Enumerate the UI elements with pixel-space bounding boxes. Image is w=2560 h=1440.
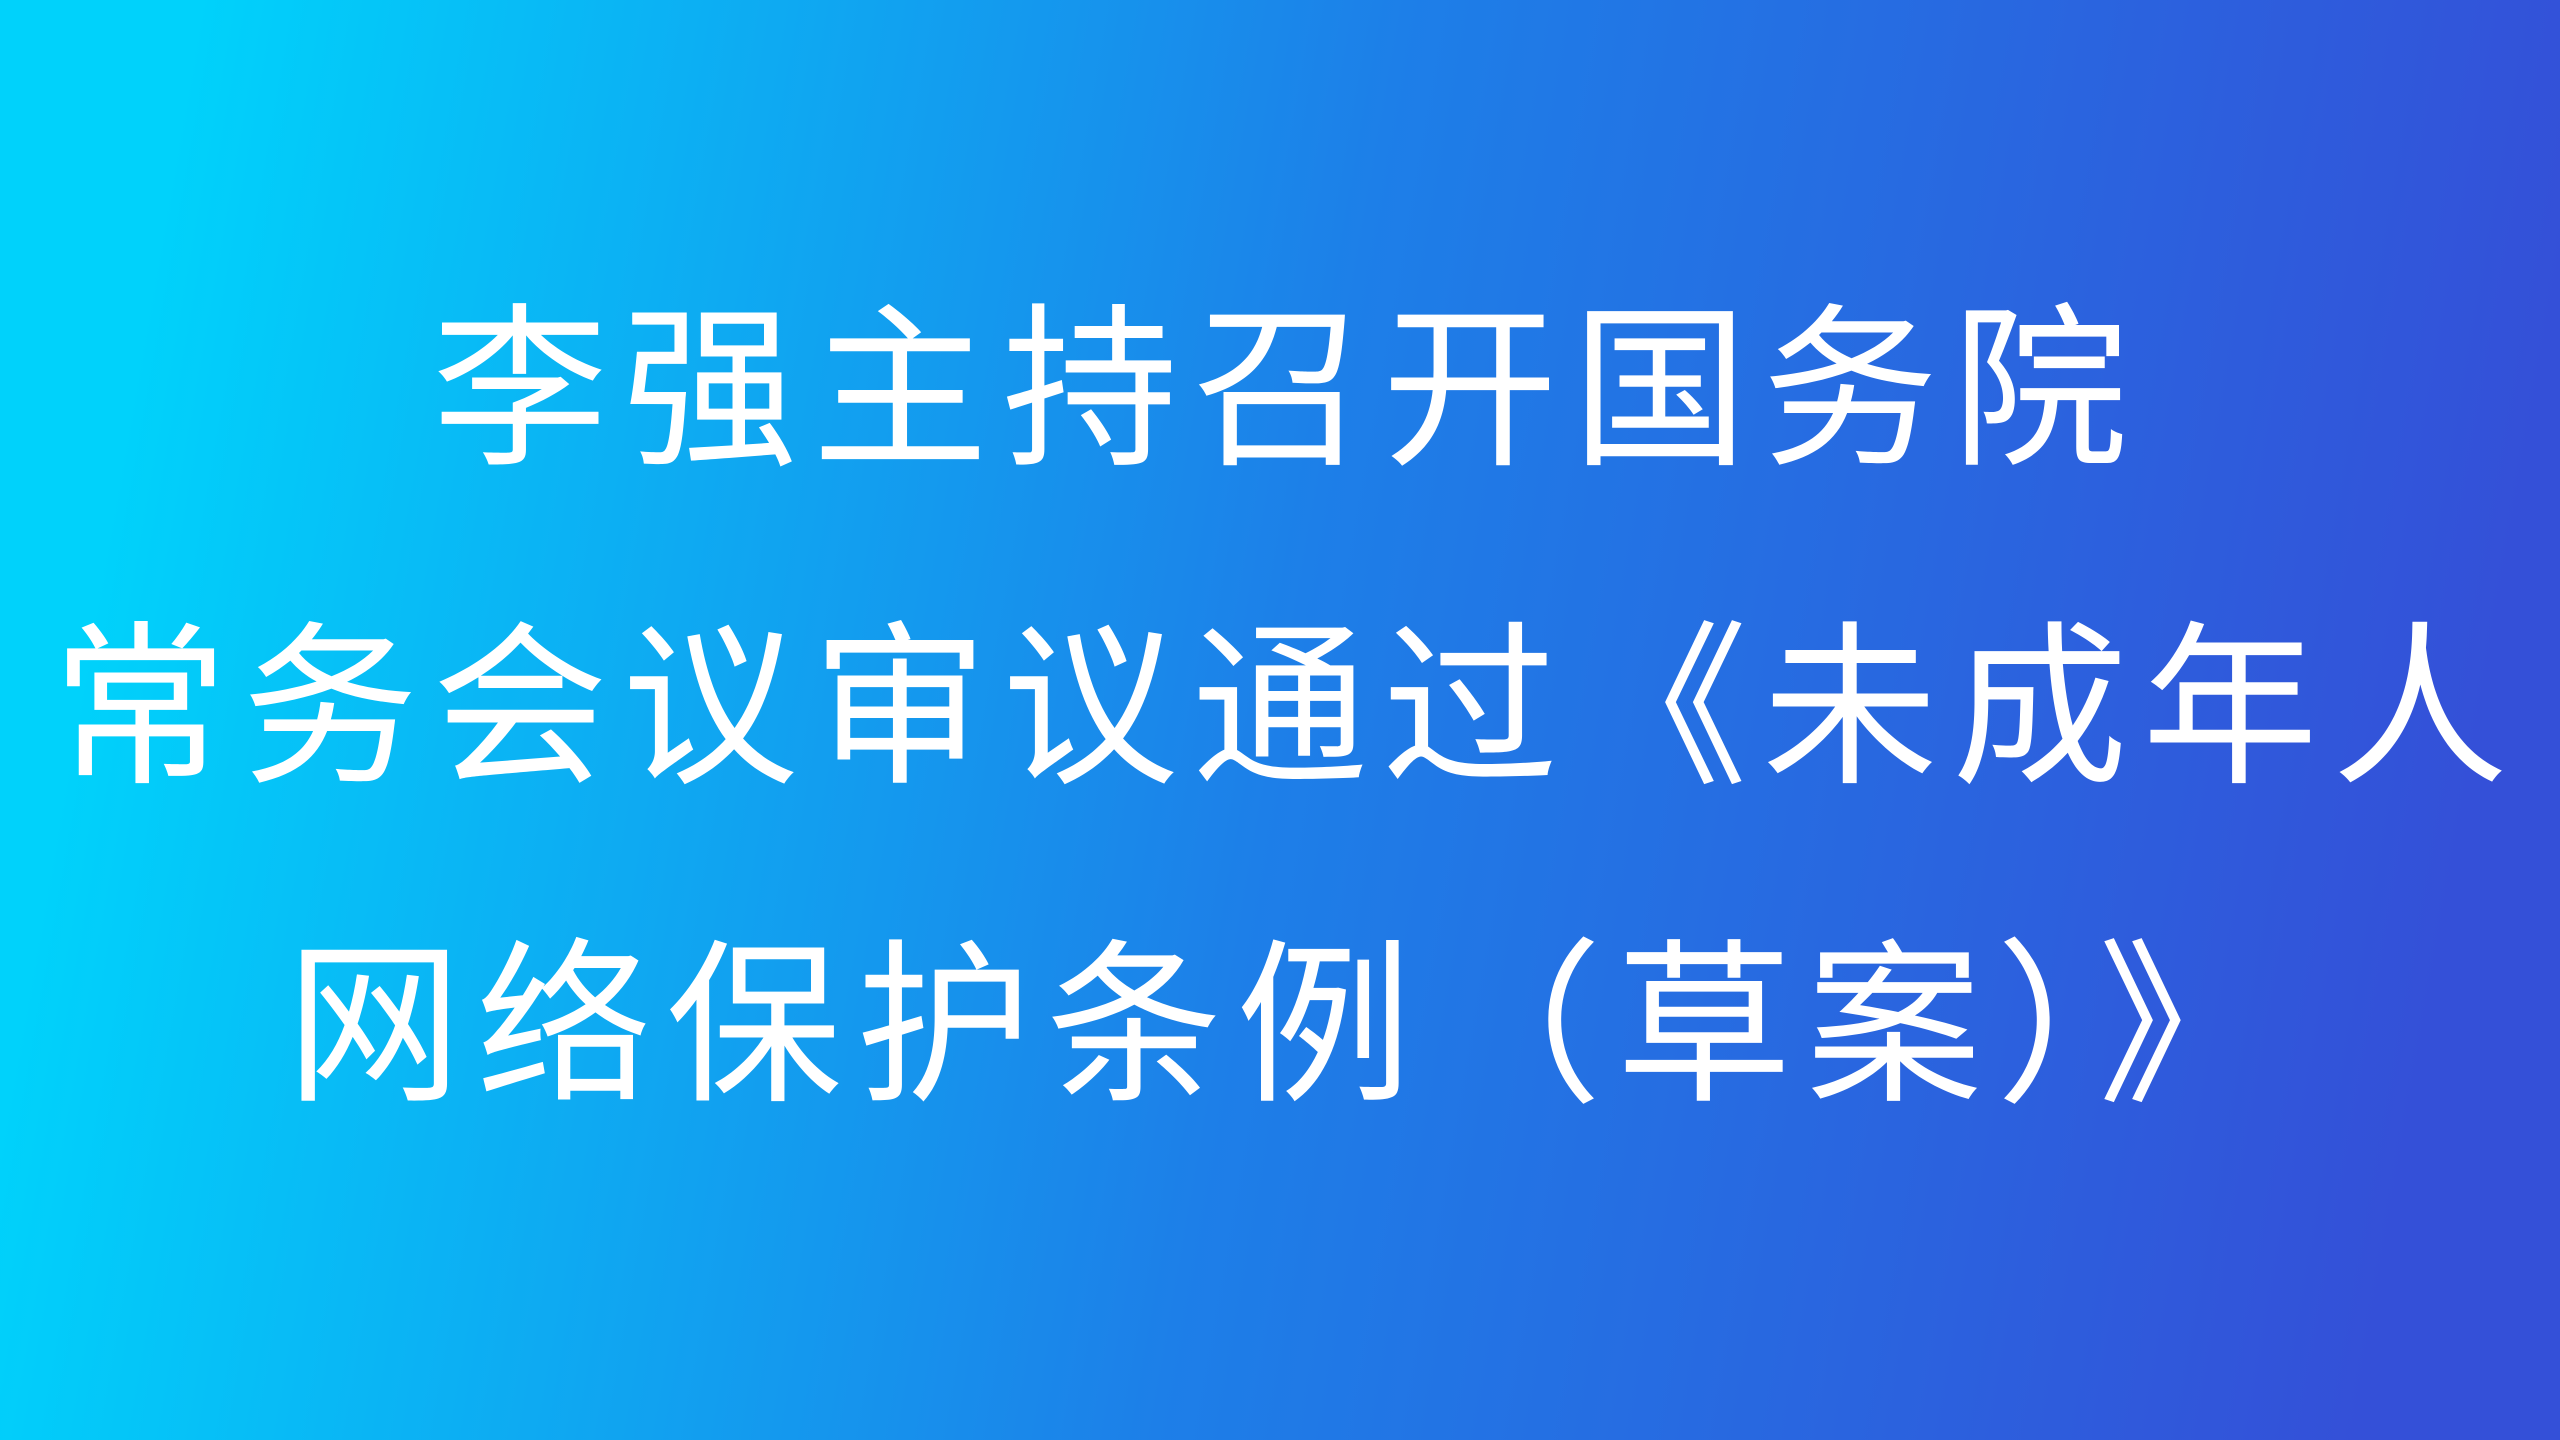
headline-text: 李强主持召开国务院 常务会议审议通过《未成年人 网络保护条例（草案）》: [0, 232, 2560, 1186]
headline-line-3: 网络保护条例（草案）》: [0, 868, 2560, 1186]
headline-line-2: 常务会议审议通过《未成年人: [0, 550, 2560, 868]
headline-line-1: 李强主持召开国务院: [0, 232, 2560, 550]
news-title-card: 李强主持召开国务院 常务会议审议通过《未成年人 网络保护条例（草案）》: [0, 0, 2560, 1440]
